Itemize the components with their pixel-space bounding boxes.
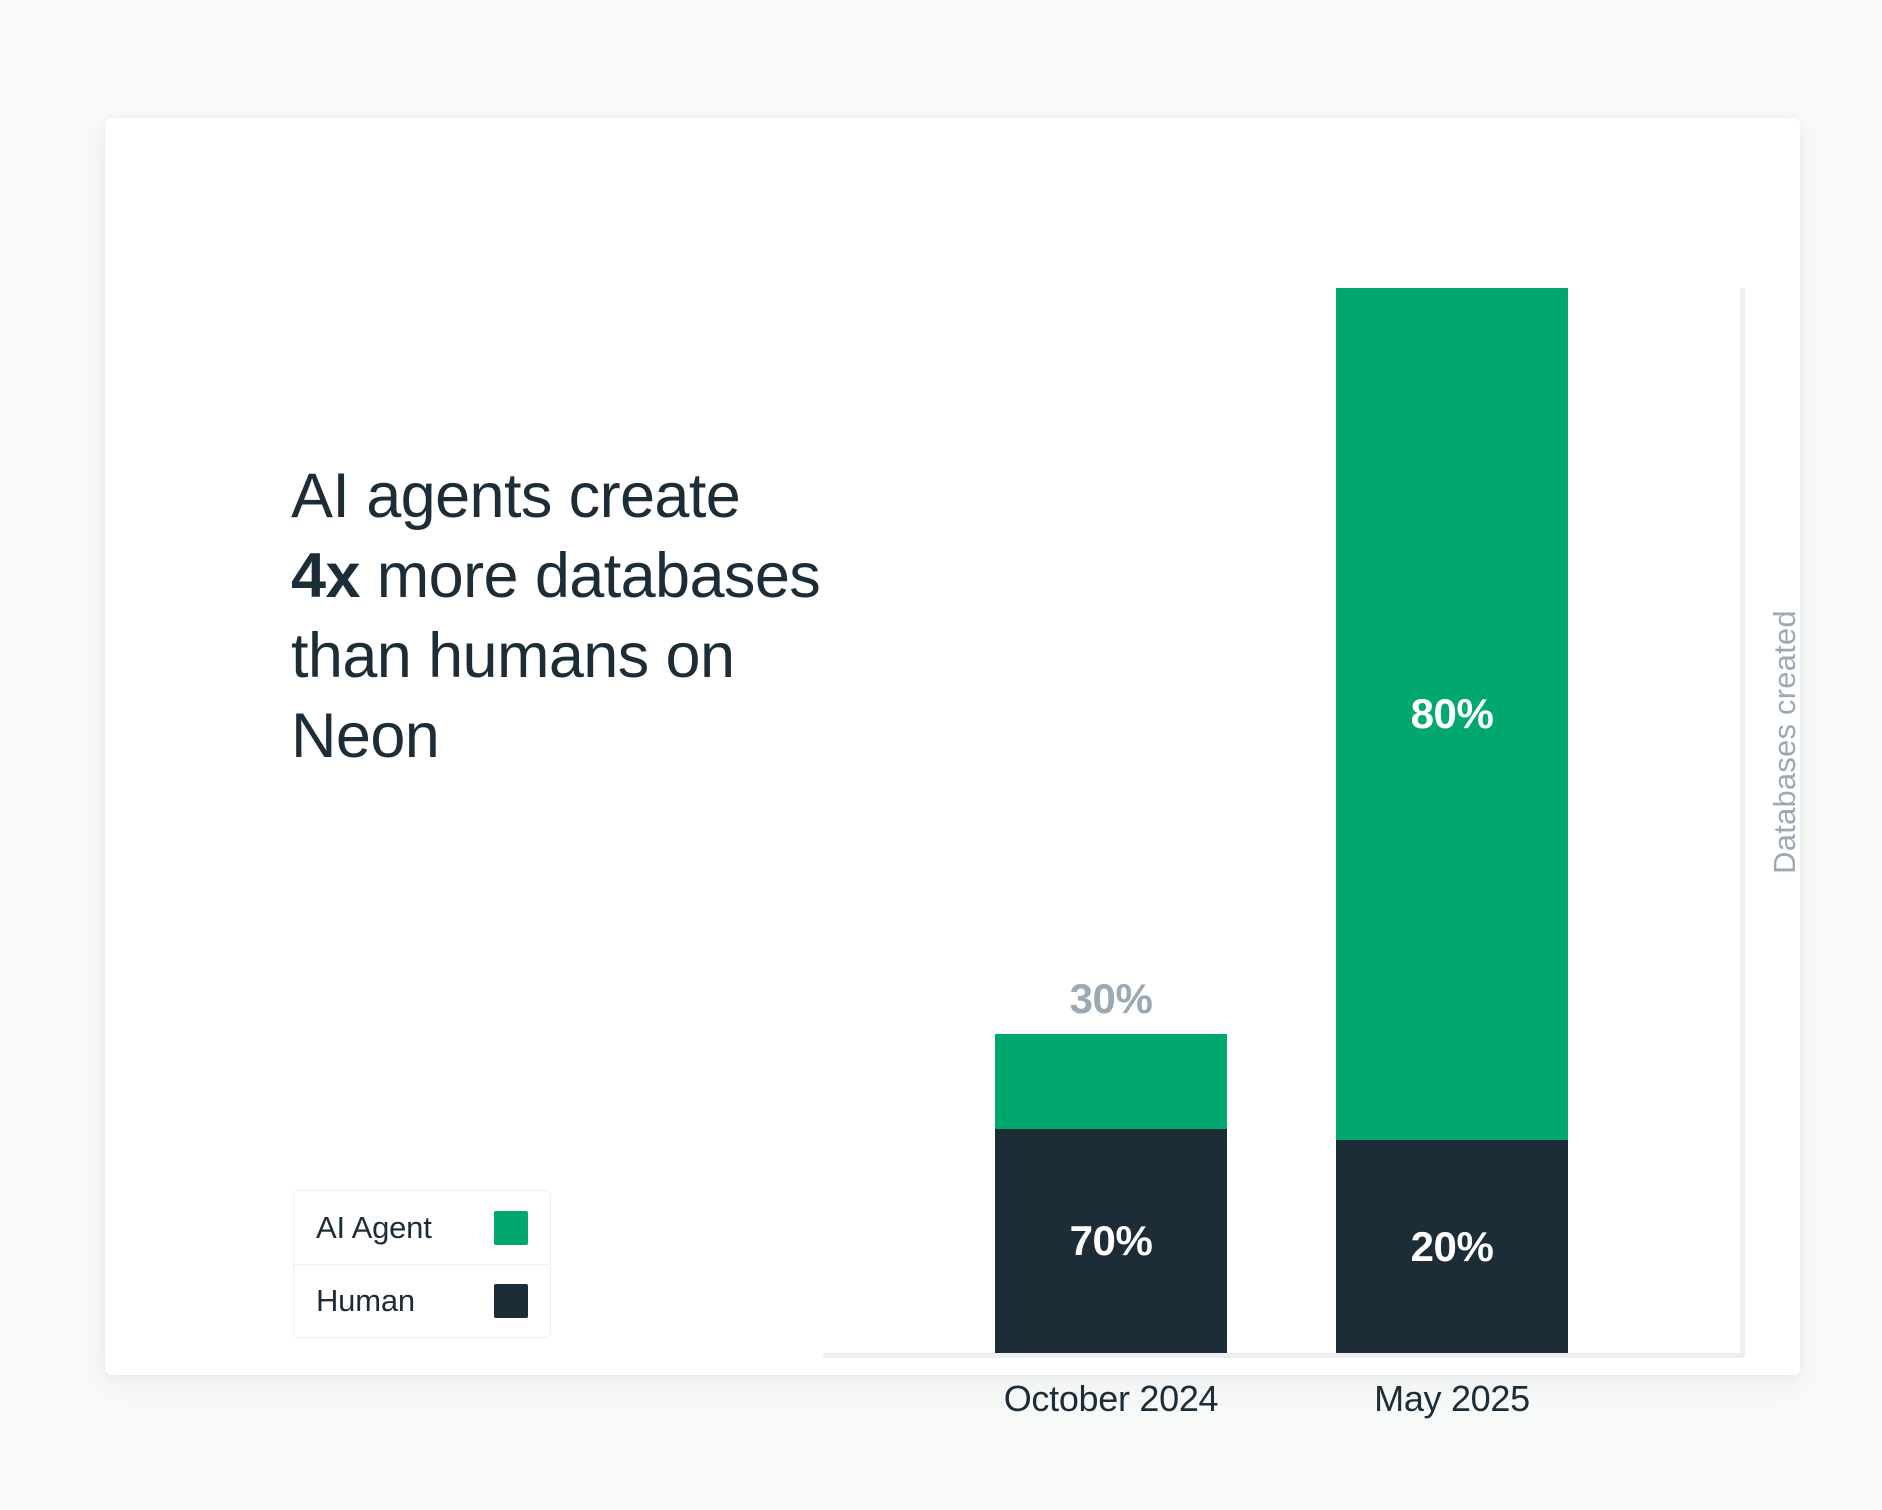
chart-legend: AI Agent Human	[293, 1190, 551, 1338]
ai-agent-color-swatch	[494, 1211, 528, 1245]
bar-group-may-2025[interactable]: 80% 20%	[1336, 288, 1568, 1353]
headline-line-2-rest: more databases	[360, 541, 820, 611]
legend-label-ai-agent: AI Agent	[316, 1210, 432, 1246]
y-axis-title: Databases created	[1755, 552, 1815, 932]
bar-label-human-october-2024: 70%	[1070, 1220, 1153, 1262]
legend-item-human[interactable]: Human	[294, 1264, 550, 1337]
chart-card: AI agents create 4x more databases than …	[105, 118, 1800, 1375]
bar-segment-human-may-2025[interactable]: 20%	[1336, 1140, 1568, 1353]
bar-label-human-may-2025: 20%	[1411, 1226, 1494, 1268]
chart-canvas: AI agents create 4x more databases than …	[0, 0, 1882, 1510]
x-tick-label-may-2025: May 2025	[1292, 1378, 1612, 1420]
headline-emphasis: 4x	[291, 541, 360, 611]
bar-segment-human-october-2024[interactable]: 70%	[995, 1129, 1227, 1353]
x-tick-label-october-2024: October 2024	[951, 1378, 1271, 1420]
bar-label-ai-agent-may-2025: 80%	[1411, 693, 1494, 735]
legend-label-human: Human	[316, 1283, 415, 1319]
bar-group-october-2024[interactable]: 30% 70%	[995, 1034, 1227, 1353]
y-axis-title-text: Databases created	[1767, 610, 1803, 874]
bar-label-ai-agent-october-2024: 30%	[995, 978, 1227, 1020]
bar-segment-ai-agent-may-2025[interactable]: 80%	[1336, 288, 1568, 1140]
legend-item-ai-agent[interactable]: AI Agent	[294, 1191, 550, 1264]
bar-segment-ai-agent-october-2024[interactable]: 30%	[995, 1034, 1227, 1130]
plot-area: 30% 70% 80% 20% October 2024 May 2025	[823, 288, 1745, 1358]
human-color-swatch	[494, 1284, 528, 1318]
y-axis-line	[1740, 288, 1745, 1358]
x-axis-line	[823, 1353, 1745, 1358]
